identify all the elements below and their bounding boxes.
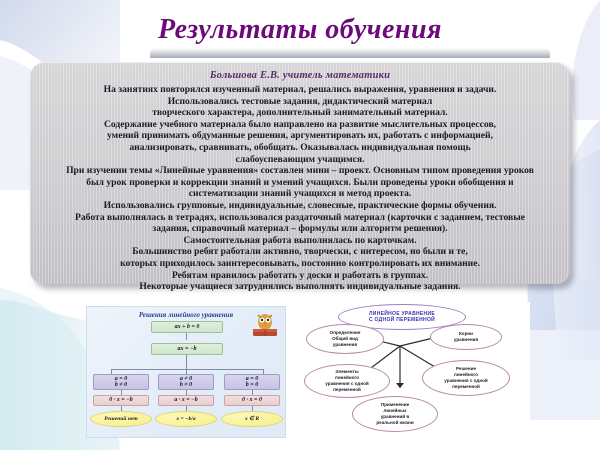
panel-line: Использовались тестовые задания, дидакти… [38, 96, 562, 108]
page-title: Результаты обучения [0, 14, 600, 46]
equation-box-3: 0 · x = 0 [224, 395, 280, 406]
panel-line: Ребятам нравилось работать у доски и раб… [38, 270, 562, 282]
result-ellipse-1: Решений нет [90, 411, 152, 427]
connector-1 [186, 333, 187, 340]
equation-box-2: a · x = −b [158, 395, 214, 406]
equation-box-1: 0 · x = −b [93, 395, 149, 406]
connector-branch-horizontal [111, 369, 263, 370]
result-ellipse-3: x ∈ R [221, 411, 283, 427]
panel-line: Самостоятельная работа выполнялась по ка… [38, 235, 562, 247]
mindmap-node-4: Решение линейного уравнения с одной пере… [422, 360, 510, 396]
mindmap-node-5: Применение линейных уравнений в реальной… [352, 396, 438, 432]
title-underbar [150, 48, 550, 58]
result-ellipse-2: x = −b/a [155, 411, 217, 427]
owl-book-icon [250, 312, 280, 338]
mindmap-node-3: Элементы линейного уравнения с одной пер… [304, 364, 390, 398]
box-transformed-equation: ax = −b [151, 343, 223, 355]
panel-line: Содержание учебного материала было напра… [38, 119, 562, 131]
slide-canvas: Результаты обучения Большова Е.В. учител… [0, 0, 600, 450]
panel-line: систематизации знаний учащихся и метод п… [38, 188, 562, 200]
panel-line: На занятиях повторялся изученный материа… [38, 84, 562, 96]
condition-box-2: a ≠ 0 b ≠ 0 [158, 374, 214, 390]
panel-line: Использовались групповые, индивидуальные… [38, 200, 562, 212]
panel-body: На занятиях повторялся изученный материа… [38, 84, 562, 293]
panel-line: был урок проверки и коррекции знаний и у… [38, 177, 562, 189]
connector-branch-mid [186, 363, 187, 374]
author-line: Большова Е.В. учитель математики [38, 70, 562, 81]
mindmap-node-1: Определение Общий вид уравнения [306, 324, 384, 354]
panel-line: слабоуспевающим учащимся. [38, 154, 562, 166]
content-panel: Большова Е.В. учитель математики На заня… [30, 62, 570, 284]
panel-line: Работа выполнялась в тетрадях, использов… [38, 212, 562, 224]
panel-line: При изучении темы «Линейные уравнения» с… [38, 165, 562, 177]
panel-line: задания, справочный материал – формулы и… [38, 223, 562, 235]
panel-line: анализировать, сравнивать, обобщать. Ока… [38, 142, 562, 154]
box-general-equation: ax + b = 0 [151, 321, 223, 333]
condition-box-3: a = 0 b = 0 [224, 374, 280, 390]
mindmap-node-2: Корни уравнения [430, 324, 502, 350]
panel-line: Некоторые учащиеся затруднялись выполнят… [38, 281, 562, 293]
panel-line: творческого характера, дополнительный за… [38, 107, 562, 119]
figure-mind-map: ЛИНЕЙНОЕ УРАВНЕНИЕ С ОДНОЙ ПЕРЕМЕННОЙ Оп… [300, 302, 530, 442]
condition-box-1: a = 0 b ≠ 0 [93, 374, 149, 390]
panel-line: Большинство ребят работали активно, твор… [38, 246, 562, 258]
panel-line: которых приходилось заинтересовывать, по… [38, 258, 562, 270]
connector-2 [186, 355, 187, 363]
figure-linear-equation-solutions: Решения линейного уравнения ax + b = 0 a… [86, 306, 286, 438]
panel-line: умений принимать обдуманные решения, арг… [38, 130, 562, 142]
